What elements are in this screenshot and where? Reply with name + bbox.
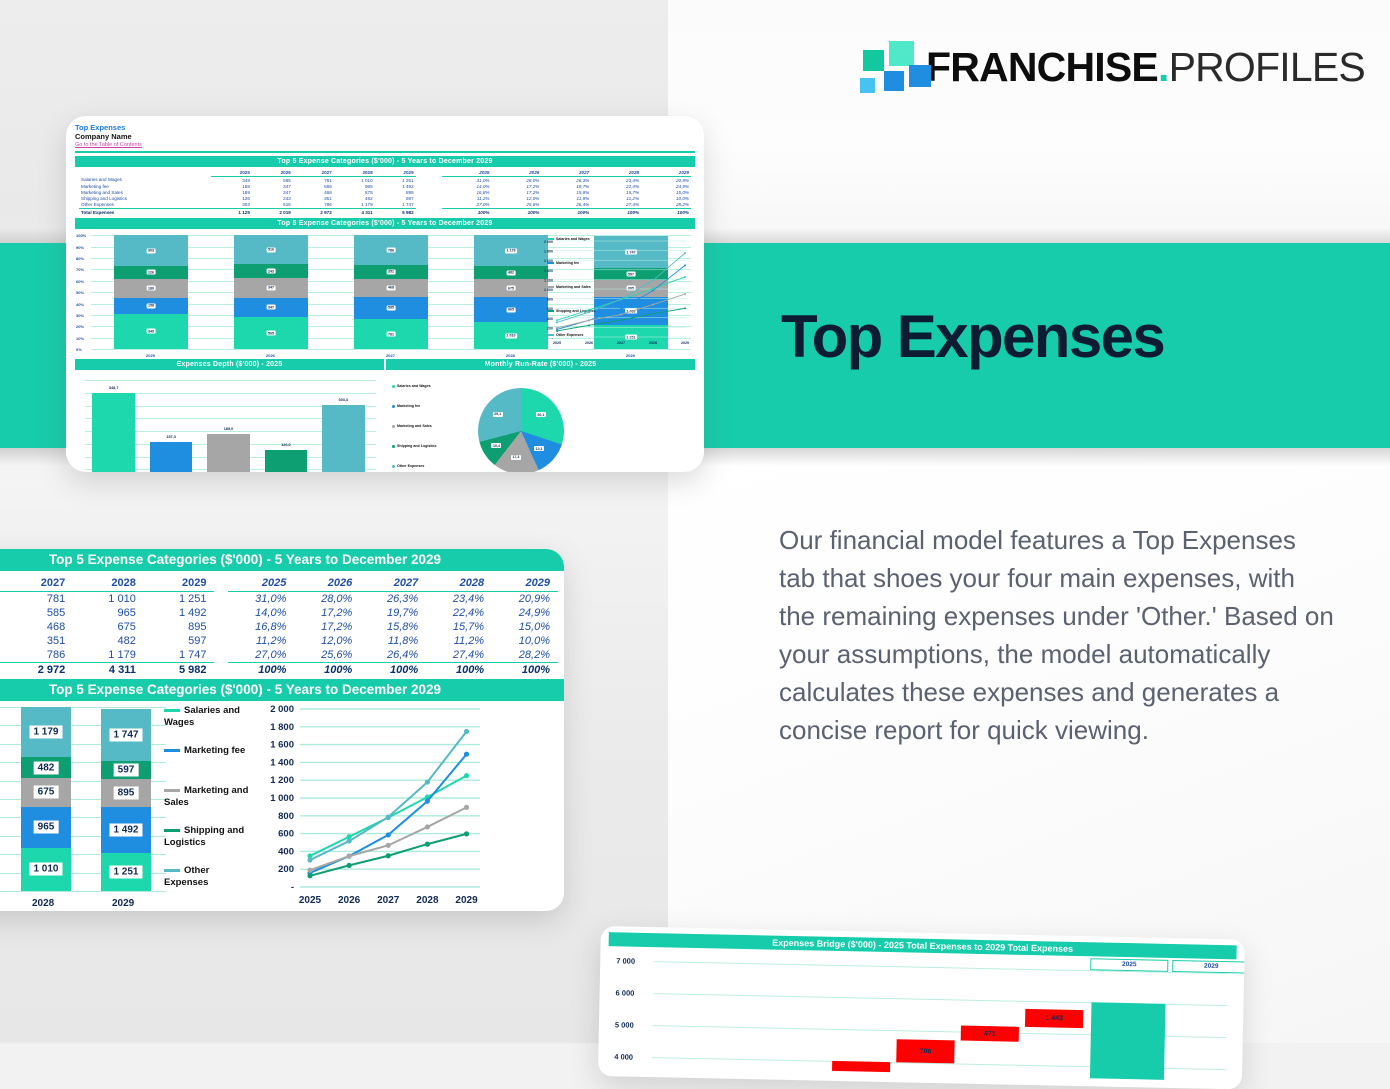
screenshot-card-top-expenses: Top Expenses Company Name Go to the Tabl… <box>66 116 704 472</box>
svg-text:1 600: 1 600 <box>544 259 553 263</box>
legend-item: Marketing fee <box>164 745 254 757</box>
bar-value-label: 157,3 <box>166 435 176 439</box>
stack-segment: 351 <box>354 265 428 278</box>
logo-word-dot: . <box>1158 44 1169 90</box>
svg-text:800: 800 <box>547 298 553 302</box>
pie-value-label: 29,1 <box>493 412 503 417</box>
y-axis-tick: 40% <box>76 302 84 307</box>
segment-value-label: 597 <box>114 763 139 776</box>
banner-expenses-depth: Expenses Depth ($'000) - 2025 <box>75 359 384 370</box>
stack-segment: 1 251 <box>101 853 151 891</box>
stack-segment: 597 <box>101 761 151 779</box>
svg-text:2 000: 2 000 <box>270 704 294 715</box>
chart-legend-zoom: Salaries and WagesMarketing feeMarketing… <box>164 705 256 905</box>
y-axis-tick: 6 000 <box>616 988 635 997</box>
bar-value-label: 126,0 <box>281 443 291 447</box>
svg-text:1 400: 1 400 <box>544 269 553 273</box>
svg-text:1 200: 1 200 <box>544 279 553 283</box>
stack-segment: 243 <box>234 264 308 278</box>
svg-text:2 000: 2 000 <box>544 240 553 244</box>
zoom-values-table: 2026 2027 2028 2029 5657811 0101 251 347… <box>0 575 214 677</box>
segment-value-label: 349 <box>147 329 156 334</box>
table-row: 347468675895 <box>0 620 214 634</box>
sheet-company: Company Name <box>75 132 695 141</box>
pct-col-year-2: 2027 <box>541 169 591 177</box>
svg-text:1 600: 1 600 <box>270 740 294 751</box>
svg-text:-: - <box>552 336 554 340</box>
legend-label: Shipping and Logistics <box>397 444 437 448</box>
waterfall-bar: 471 <box>961 1026 1019 1042</box>
y-axis-tick: 4 000 <box>614 1052 633 1061</box>
legend-label: Marketing fee <box>397 404 420 408</box>
stack-segment: 1 179 <box>21 707 71 757</box>
pie-value-label: 17,3 <box>511 455 521 460</box>
logo-squares-icon <box>852 38 910 96</box>
x-axis-tick: 2025 <box>146 353 155 358</box>
legend-item: Marketing and Sales <box>164 785 254 809</box>
x-axis-tick: 2028 <box>506 353 515 358</box>
segment-value-label: 965 <box>507 307 516 312</box>
stacked-column: 565347347243516 <box>234 235 308 349</box>
zpct-2026: 2026 <box>294 575 360 592</box>
segment-value-label: 781 <box>387 332 396 337</box>
legend-item: Salaries and Wages <box>164 705 254 729</box>
pie-value-label: 30,1 <box>536 412 546 417</box>
zoom-banner-chart: Top 5 Expense Categories ($'000) - 5 Yea… <box>0 679 564 701</box>
legend-item: Marketing and Sales <box>392 424 448 429</box>
stack-segment: 895 <box>101 779 151 807</box>
segment-value-label: 1 179 <box>505 248 517 253</box>
segment-value-label: 516 <box>267 247 276 252</box>
x-axis-tick: 2029 <box>626 353 635 358</box>
bar-value-label: 1 443 <box>1045 1015 1063 1022</box>
svg-text:1 400: 1 400 <box>270 757 294 768</box>
chart-expenses-bridge-waterfall: 2025 2029 7 0006 0005 0004 0007064711 44… <box>606 946 1236 1083</box>
table-row: 31,0%28,0%26,3%23,4%20,9% <box>228 592 558 607</box>
y-axis-tick: 50% <box>76 290 84 295</box>
y-axis-tick: 10% <box>76 336 84 341</box>
svg-text:200: 200 <box>278 864 294 875</box>
col-year-0: 2025 <box>211 169 252 177</box>
segment-value-label: 347 <box>267 285 276 290</box>
legend-item: Other Expenses <box>164 865 254 889</box>
stack-segment: 1 492 <box>101 807 151 853</box>
legend-item: Salaries and Wages <box>392 384 448 389</box>
zpct-2029: 2029 <box>492 575 558 592</box>
zpct-2028: 2028 <box>426 575 492 592</box>
x-axis-tick: 2028 <box>32 898 54 909</box>
expense-tables: 2025 2026 2027 2028 2029 Salaries and Wa… <box>75 167 695 218</box>
x-axis-tick: 2029 <box>112 898 134 909</box>
y-axis-tick: 100% <box>76 233 86 238</box>
stack-segment: 482 <box>21 757 71 778</box>
chart-monthly-runrate-pie: 30,113,117,310,429,1Salaries and WagesMa… <box>386 370 695 472</box>
svg-text:2028: 2028 <box>416 895 439 906</box>
legend-item: Shipping and Logistics <box>392 444 448 449</box>
stack-segment: 565 <box>234 317 308 349</box>
stack-segment: 516 <box>234 235 308 264</box>
bar-value-label: 189,0 <box>224 427 234 431</box>
table-row: 3475859651 492 <box>0 606 214 620</box>
svg-text:600: 600 <box>278 829 294 840</box>
zpct-2027: 2027 <box>360 575 426 592</box>
zpct-2025: 2025 <box>228 575 294 592</box>
stacked-column: 781585468351786 <box>354 235 428 349</box>
svg-text:2029: 2029 <box>681 341 689 345</box>
chart-monthly-runrate-line-zoom: 2 0001 8001 6001 4001 2001 0008006004002… <box>256 701 488 911</box>
expense-values-table: 2025 2026 2027 2028 2029 Salaries and Wa… <box>79 169 416 215</box>
col-year-3: 2028 <box>334 169 375 177</box>
table-row: 243351482597 <box>0 634 214 648</box>
svg-text:2029: 2029 <box>455 895 478 906</box>
table-row-total: Total Expenses 1 1252 0192 9724 3115 982 <box>79 208 416 215</box>
y-axis-tick: 90% <box>76 245 84 250</box>
stack-segment: 786 <box>354 235 428 265</box>
stack-segment: 303 <box>114 235 188 266</box>
segment-value-label: 675 <box>34 786 59 799</box>
svg-text:1 800: 1 800 <box>270 722 294 733</box>
y-axis-tick: 30% <box>76 313 84 318</box>
legend-label: Marketing and Sales <box>397 424 432 428</box>
depth-bar: 189,0 <box>207 434 249 472</box>
svg-text:1 200: 1 200 <box>270 775 294 786</box>
svg-text:1 800: 1 800 <box>544 250 553 254</box>
segment-value-label: 1 010 <box>29 863 62 876</box>
logo-wordmark: FRANCHISE.PROFILES <box>926 47 1365 88</box>
col-year-2: 2027 <box>293 169 334 177</box>
depth-bar: 157,3 <box>150 442 192 472</box>
table-row: 27,0%25,6%26,4%27,4%28,2% <box>442 202 691 209</box>
legend-label: Marketing fee <box>184 745 245 756</box>
y-axis-tick: 70% <box>76 267 84 272</box>
segment-value-label: 126 <box>147 270 156 275</box>
svg-text:2026: 2026 <box>585 341 593 345</box>
y-axis-tick: 0% <box>76 347 82 352</box>
brand-logo: FRANCHISE.PROFILES <box>852 38 1365 96</box>
chart-expenses-depth: 348,7157,3189,0126,0303,3 <box>75 370 384 472</box>
logo-word-bold: FRANCHISE <box>926 44 1158 90</box>
zoom-percent-table: 2025 2026 2027 2028 2029 31,0%28,0%26,3%… <box>228 575 558 677</box>
svg-text:2026: 2026 <box>338 895 361 906</box>
segment-value-label: 1 179 <box>29 726 62 739</box>
col-year-4: 2029 <box>375 169 416 177</box>
table-of-contents-link[interactable]: Go to the Table of Contents <box>75 141 695 149</box>
svg-text:1 000: 1 000 <box>270 793 294 804</box>
chart-stacked-columns-zoom: 78158546835178620271 0109656754821 17920… <box>0 701 166 911</box>
stack-segment: 347 <box>234 298 308 318</box>
page-title: Top Expenses <box>781 307 1164 367</box>
table-row: 5167861 1791 747 <box>0 648 214 663</box>
stack-segment: 158 <box>114 298 188 314</box>
segment-value-label: 303 <box>147 248 156 253</box>
stack-segment: 189 <box>114 279 188 298</box>
stack-segment: 1 010 <box>21 848 71 891</box>
segment-value-label: 158 <box>147 303 156 308</box>
stacked-column: 349158189126303 <box>114 235 188 349</box>
table-row: 16,8%17,2%15,8%15,7%15,0% <box>228 620 558 634</box>
banner-expense-categories-table: Top 5 Expense Categories ($'000) - 5 Yea… <box>75 156 695 167</box>
segment-value-label: 585 <box>387 305 396 310</box>
stack-segment: 781 <box>354 319 428 349</box>
chart-stacked-columns: 100%90%80%70%60%50%40%30%20%10%0%3491581… <box>75 231 695 359</box>
table-row-total: 2 0192 9724 3115 982 <box>0 663 214 678</box>
bar-value-label: 303,3 <box>339 398 349 402</box>
segment-value-label: 482 <box>34 761 59 774</box>
pct-col-year-3: 2028 <box>591 169 641 177</box>
background-panel-top-right <box>668 0 1390 243</box>
segment-value-label: 468 <box>387 285 396 290</box>
segment-value-label: 565 <box>267 331 276 336</box>
waterfall-bar: 706 <box>896 1040 954 1064</box>
screenshot-card-expense-categories-zoom: Top 5 Expense Categories ($'000) - 5 Yea… <box>0 549 564 911</box>
svg-text:400: 400 <box>278 846 294 857</box>
y-axis-tick: 20% <box>76 324 84 329</box>
table-row: Salaries and Wages 3495657811 0101 251 <box>79 177 416 184</box>
table-row: 31,0%28,0%26,3%23,4%20,9% <box>442 177 691 184</box>
bar-value-label: 706 <box>920 1048 932 1055</box>
table-row: 11,2%12,0%11,8%11,2%10,0% <box>228 634 558 648</box>
bar-value-label: 348,7 <box>109 386 119 390</box>
svg-text:2025: 2025 <box>299 895 322 906</box>
stack-segment: 347 <box>234 278 308 298</box>
table-row: 5657811 0101 251 <box>0 592 214 607</box>
sheet-title: Top Expenses <box>75 123 695 132</box>
stack-segment: 1 747 <box>101 709 151 761</box>
stack-segment: 965 <box>21 807 71 848</box>
legend-label: Other Expenses <box>397 464 424 468</box>
depth-bar: 303,3 <box>322 405 364 472</box>
segment-value-label: 347 <box>267 305 276 310</box>
y-axis-tick: 5 000 <box>615 1020 634 1029</box>
segment-value-label: 243 <box>267 269 276 274</box>
waterfall-total-bar <box>1090 1002 1166 1080</box>
table-row: 27,0%25,6%26,4%27,4%28,2% <box>228 648 558 663</box>
svg-text:2025: 2025 <box>553 341 561 345</box>
segment-value-label: 675 <box>507 286 516 291</box>
waterfall-bar <box>832 1061 890 1072</box>
segment-value-label: 482 <box>507 270 516 275</box>
stack-segment: 468 <box>354 279 428 297</box>
pie-value-label: 10,4 <box>491 443 501 448</box>
pct-col-year-4: 2029 <box>641 169 691 177</box>
table-row-total: 100%100%100%100%100% <box>442 208 691 215</box>
svg-text:-: - <box>291 882 294 893</box>
x-axis-tick: 2026 <box>266 353 275 358</box>
logo-word-light: PROFILES <box>1169 44 1365 90</box>
segment-value-label: 786 <box>387 248 396 253</box>
segment-value-label: 189 <box>147 286 156 291</box>
depth-bar: 348,7 <box>92 393 134 472</box>
depth-bar: 126,0 <box>265 450 307 472</box>
banner-expense-categories-chart: Top 5 Expense Categories ($'000) - 5 Yea… <box>75 218 695 229</box>
pct-col-year-1: 2026 <box>492 169 542 177</box>
svg-text:2027: 2027 <box>377 895 400 906</box>
mini-line-chart: 2 0001 8001 6001 4001 2001 0008006004002… <box>529 237 689 345</box>
segment-value-label: 965 <box>34 821 59 834</box>
segment-value-label: 1 251 <box>109 865 142 878</box>
stack-segment: 585 <box>354 297 428 319</box>
stacked-column: 1 2511 4928955971 747 <box>101 707 151 891</box>
segment-value-label: 351 <box>387 269 396 274</box>
stacked-column: 1 0109656754821 179 <box>21 707 71 891</box>
zcol-2029: 2029 <box>144 575 215 592</box>
svg-text:800: 800 <box>278 811 294 822</box>
zcol-2028: 2028 <box>73 575 144 592</box>
svg-text:1 000: 1 000 <box>544 288 553 292</box>
bar-value-label: 471 <box>984 1030 996 1037</box>
y-axis-tick: 7 000 <box>616 956 635 965</box>
y-axis-tick: 80% <box>76 256 84 261</box>
legend-item: Shipping and Logistics <box>164 825 254 849</box>
legend-item: Other Expenses <box>392 464 448 469</box>
segment-value-label: 1 747 <box>109 728 142 741</box>
svg-text:600: 600 <box>547 307 553 311</box>
pct-col-year-0: 2025 <box>442 169 492 177</box>
expense-percent-table: 2025 2026 2027 2028 2029 31,0%28,0%26,3%… <box>442 169 691 215</box>
table-row: 14,0%17,2%19,7%22,4%24,9% <box>228 606 558 620</box>
stack-segment: 675 <box>21 778 71 807</box>
stack-segment: 126 <box>114 266 188 279</box>
x-axis-tick: 2027 <box>386 353 395 358</box>
svg-text:400: 400 <box>547 317 553 321</box>
pie-value-label: 13,1 <box>534 446 544 451</box>
pie-slices <box>478 388 564 472</box>
sheet-divider <box>75 151 695 153</box>
segment-value-label: 1 010 <box>505 333 517 338</box>
svg-text:200: 200 <box>547 327 553 331</box>
stack-segment: 349 <box>114 314 188 349</box>
zcol-2027: 2027 <box>3 575 74 592</box>
line-chart-svg: 2 0001 8001 6001 4001 2001 0008006004002… <box>256 701 488 911</box>
table-row-total: 100%100%100%100%100% <box>228 663 558 678</box>
col-year-1: 2026 <box>252 169 293 177</box>
y-axis-tick: 60% <box>76 279 84 284</box>
legend-label: Salaries and Wages <box>397 384 431 388</box>
waterfall-bar: 1 443 <box>1025 1009 1083 1029</box>
screenshot-card-expenses-bridge: Expenses Bridge ($'000) - 2025 Total Exp… <box>598 926 1245 1089</box>
svg-text:2027: 2027 <box>617 341 625 345</box>
segment-value-label: 1 492 <box>109 823 142 836</box>
legend-item: Marketing fee <box>392 404 448 409</box>
banner-monthly-runrate: Monthly Run-Rate ($'000) - 2025 <box>386 359 695 370</box>
zoom-banner-table: Top 5 Expense Categories ($'000) - 5 Yea… <box>0 549 564 571</box>
page-description: Our financial model features a Top Expen… <box>779 521 1335 749</box>
svg-text:2028: 2028 <box>649 341 657 345</box>
table-row: Other Expenses 3035167861 1791 747 <box>79 202 416 209</box>
segment-value-label: 895 <box>114 786 139 799</box>
